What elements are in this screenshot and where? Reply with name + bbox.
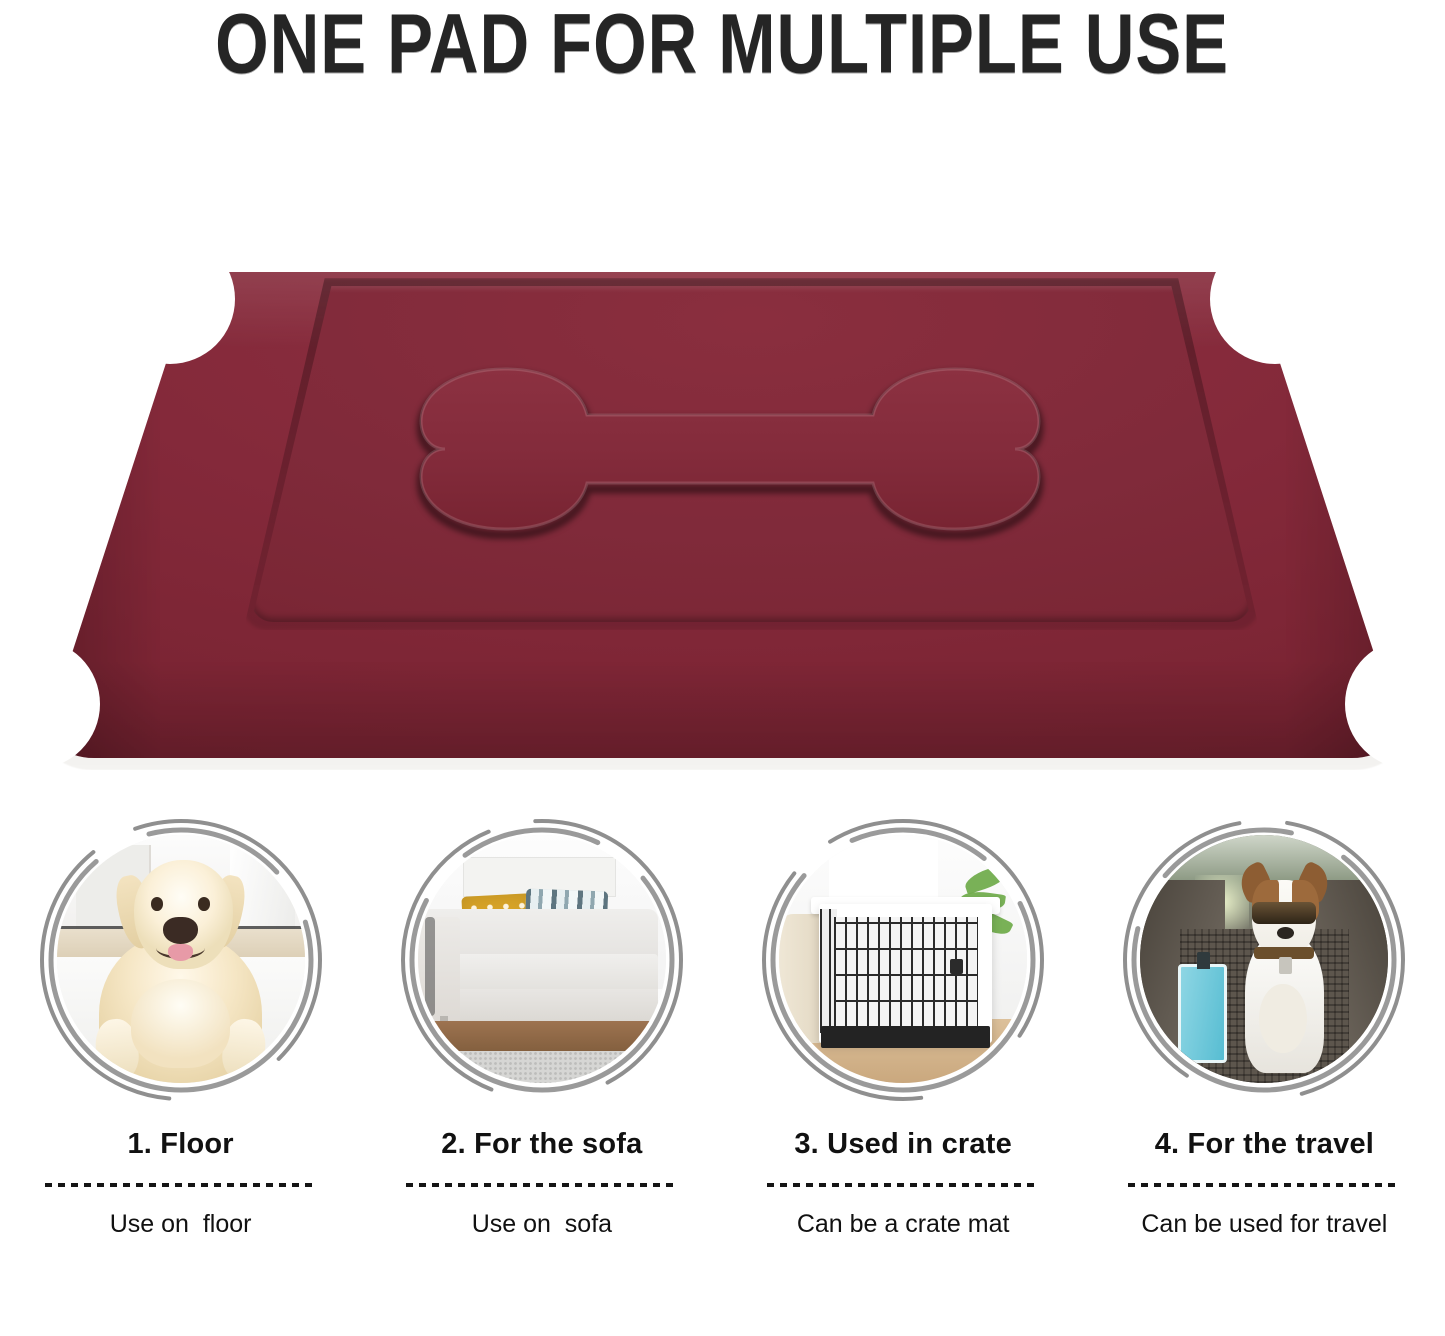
bone-emboss — [385, 359, 1075, 539]
use-case-image-crate — [758, 812, 1048, 1108]
use-case-subtitle: Use on floor — [110, 1210, 252, 1239]
use-case-subtitle: Use on sofa — [472, 1210, 612, 1239]
use-case-image-sofa — [397, 812, 687, 1108]
use-cases-row: 1. Floor Use on floor 2. For the sofa — [0, 800, 1445, 1336]
use-case-travel: 4. For the travel Can be used for travel — [1084, 800, 1445, 1336]
use-case-sofa: 2. For the sofa Use on sofa — [361, 800, 722, 1336]
use-case-floor: 1. Floor Use on floor — [0, 800, 361, 1336]
use-case-subtitle: Can be used for travel — [1141, 1210, 1387, 1239]
use-case-title: 1. Floor — [127, 1128, 233, 1161]
use-case-image-travel — [1119, 812, 1409, 1108]
page-title: ONE PAD FOR MULTIPLE USE — [216, 2, 1230, 86]
use-case-image-floor — [36, 812, 326, 1108]
use-case-title: 2. For the sofa — [441, 1128, 642, 1161]
use-case-title: 4. For the travel — [1155, 1128, 1374, 1161]
photo-white-wooden-dog-crate — [779, 835, 1027, 1083]
divider-dashed — [1128, 1183, 1400, 1187]
headline-banner: ONE PAD FOR MULTIPLE USE — [0, 0, 1445, 88]
use-case-subtitle: Can be a crate mat — [797, 1210, 1010, 1239]
pad-stage — [0, 184, 1445, 724]
hero-product-image — [0, 88, 1445, 748]
use-case-crate: 3. Used in crate Can be a crate mat — [723, 800, 1084, 1336]
divider-dashed — [406, 1183, 678, 1187]
photo-golden-retriever-on-floor — [57, 835, 305, 1083]
divider-dashed — [767, 1183, 1039, 1187]
use-case-title: 3. Used in crate — [794, 1128, 1012, 1161]
divider-dashed — [45, 1183, 317, 1187]
bone-outline — [385, 359, 1075, 539]
photo-jack-russell-with-sunglasses — [1140, 835, 1388, 1083]
photo-grey-sofa-with-pillows — [418, 835, 666, 1083]
